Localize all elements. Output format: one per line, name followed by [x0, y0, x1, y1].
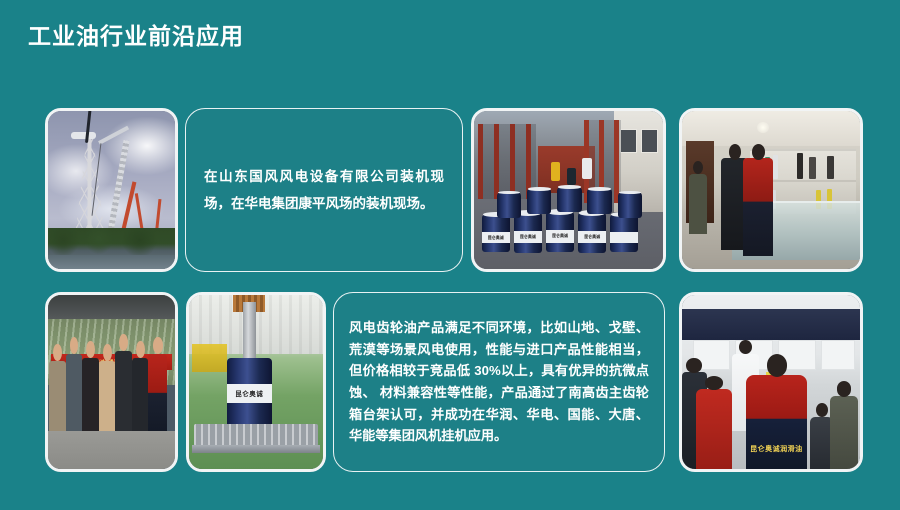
photo-scene: 昆仑奥诚润滑油: [682, 295, 860, 469]
product-bottle: [827, 156, 834, 179]
photo-group-visit: 昆仑奥诚润滑油工厂参观: [45, 292, 178, 472]
visitor-figure: [689, 174, 707, 234]
person-figure: [66, 354, 83, 431]
callout-text-wrapper: 风电齿轮油产品满足不同环境，比如山地、戈壁、荒漠等场景风电使用，性能与进口产品性…: [334, 317, 664, 446]
photo-filling-line: 昆仑奥诚: [186, 292, 326, 472]
oil-drum: [527, 188, 552, 214]
person-figure: [132, 358, 149, 431]
roof-edge-shape: [48, 295, 175, 319]
oil-drum: [610, 214, 638, 252]
visitor-figure: [696, 389, 732, 469]
oil-drum: [618, 192, 643, 218]
oil-drum: 昆仑奥诚: [227, 358, 273, 431]
drum-label-band: 昆仑奥诚: [514, 231, 542, 243]
drum-label-text: 昆仑奥诚: [546, 233, 574, 239]
turbine-nacelle-shape: [71, 132, 96, 140]
callout-box-product-features: 风电齿轮油产品满足不同环境，比如山地、戈壁、荒漠等场景风电使用，性能与进口产品性…: [333, 292, 665, 472]
visitor-figure: [830, 396, 858, 469]
head-shape: [767, 354, 788, 377]
person-figure: [49, 361, 66, 431]
photo-lab-exchange: 昆仑奥诚润滑油: [679, 292, 863, 472]
head-shape: [119, 334, 128, 351]
photo-scene: [682, 111, 860, 269]
person-figure: [99, 361, 116, 431]
drum-label-band: 昆仑奥诚: [227, 384, 273, 403]
window-shape: [641, 129, 658, 153]
page-title: 工业油行业前沿应用: [28, 23, 244, 51]
drum-label-band: 昆仑奥诚: [546, 230, 574, 242]
drum-label-text: 昆仑奥诚: [482, 235, 510, 241]
ground-shape: [48, 431, 175, 469]
photo-drums-on-truck: 昆仑奥诚 昆仑奥诚 昆仑奥诚 昆仑奥诚: [471, 108, 666, 272]
callout-text: 在山东国风风电设备有限公司装机现场，在华电集团康平风场的装机现场。: [204, 163, 444, 217]
person-figure: [115, 351, 132, 431]
oil-drum: 昆仑奥诚: [482, 214, 510, 252]
head-shape: [816, 403, 828, 417]
person-figure: [148, 354, 167, 431]
callout-box-installation: 在山东国风风电设备有限公司装机现场，在华电集团康平风场的装机现场。: [185, 108, 463, 272]
filling-head-shape: [243, 302, 256, 358]
head-shape: [86, 341, 95, 358]
head-shape: [136, 341, 145, 358]
photo-scene: 昆仑奥诚 昆仑奥诚 昆仑奥诚 昆仑奥诚: [474, 111, 663, 269]
branded-jacket-figure: 昆仑奥诚润滑油: [746, 375, 807, 469]
drum-label-band: 昆仑奥诚: [482, 232, 510, 244]
drum-stack: 昆仑奥诚 昆仑奥诚 昆仑奥诚 昆仑奥诚: [474, 177, 663, 269]
roller-conveyor-shape: [194, 424, 317, 447]
oil-drum: [497, 192, 522, 218]
photo-showroom: [679, 108, 863, 272]
product-bottle: [809, 157, 815, 178]
photo-wind-turbine-site: [45, 108, 178, 272]
head-shape: [729, 144, 742, 160]
head-shape: [837, 381, 852, 396]
slide-root: 工业油行业前沿应用 在山东国风风电设备有限公司装机现场，在华电集团康平风场的装机…: [0, 0, 900, 510]
yellow-machinery-shape: [192, 344, 227, 372]
drum-label-text: 昆仑奥诚: [514, 234, 542, 240]
product-bottle: [797, 153, 803, 178]
drum-label-band: 昆仑奥诚: [578, 231, 606, 243]
head-shape: [686, 358, 701, 373]
callout-text-wrapper: 在山东国风风电设备有限公司装机现场，在华电集团康平风场的装机现场。: [186, 163, 462, 217]
callout-text: 风电齿轮油产品满足不同环境，比如山地、戈壁、荒漠等场景风电使用，性能与进口产品性…: [349, 317, 649, 446]
head-shape: [53, 344, 62, 361]
head-shape: [103, 344, 112, 361]
oil-drum: 昆仑奥诚: [546, 211, 574, 252]
drum-label-band: [610, 232, 638, 244]
oil-drum: [587, 188, 612, 214]
head-shape: [153, 337, 163, 354]
oil-drum: 昆仑奥诚: [514, 212, 542, 252]
photo-scene: [48, 111, 175, 269]
oil-drum: 昆仑奥诚: [578, 212, 606, 252]
staff-figure: [743, 158, 773, 256]
window-shape: [620, 129, 637, 153]
photo-scene: 昆仑奥诚润滑油工厂参观: [48, 295, 175, 469]
product-bottle: [773, 155, 778, 179]
drum-label-text: 昆仑奥诚: [235, 388, 263, 398]
photo-scene: 昆仑奥诚: [189, 295, 323, 469]
person-figure: [82, 358, 99, 431]
water-shape: [48, 255, 175, 269]
jacket-brand-text: 昆仑奥诚润滑油: [746, 444, 807, 454]
conveyor-frame-shape: [192, 445, 321, 454]
oil-drum: [557, 187, 582, 213]
head-shape: [752, 144, 766, 161]
drum-label-text: 昆仑奥诚: [578, 234, 606, 240]
worker-figure: [582, 158, 592, 179]
head-shape: [705, 376, 724, 390]
head-shape: [739, 340, 752, 354]
wall-panel-shape: [821, 340, 855, 370]
upper-cabinet-shape: [682, 309, 860, 340]
